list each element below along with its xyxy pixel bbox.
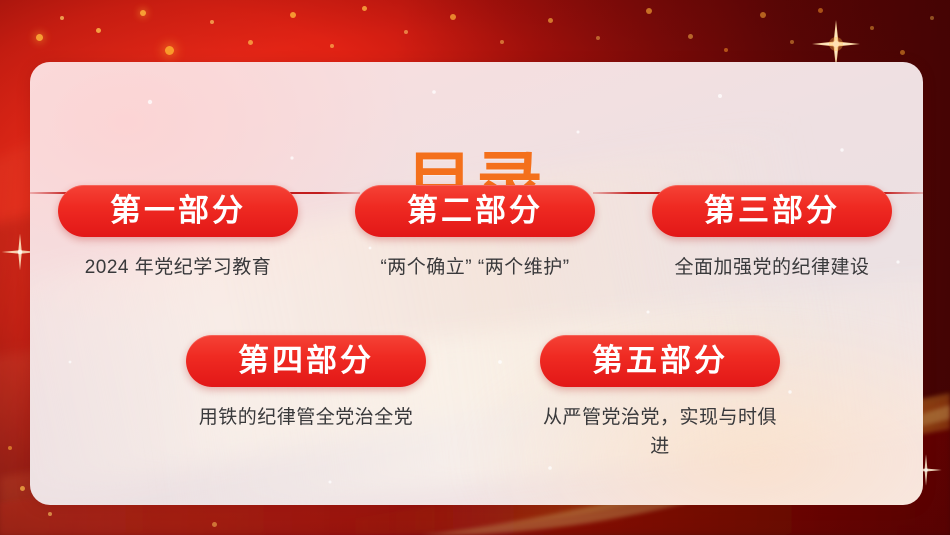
section-caption-1: 2024 年党纪学习教育 <box>58 253 298 282</box>
section-badge-3[interactable]: 第三部分 <box>652 185 892 237</box>
section-caption-4: 用铁的纪律管全党治全党 <box>186 403 426 432</box>
section-caption-3: 全面加强党的纪律建设 <box>652 253 892 282</box>
toc-item-5[interactable]: 第五部分 从严管党治党，实现与时俱进 <box>540 335 780 461</box>
section-badge-5[interactable]: 第五部分 <box>540 335 780 387</box>
section-caption-2: “两个确立” “两个维护” <box>355 253 595 282</box>
section-badge-1[interactable]: 第一部分 <box>58 185 298 237</box>
toc-item-4[interactable]: 第四部分 用铁的纪律管全党治全党 <box>186 335 426 432</box>
section-badge-2[interactable]: 第二部分 <box>355 185 595 237</box>
toc-item-1[interactable]: 第一部分 2024 年党纪学习教育 <box>58 185 298 282</box>
toc-items: 第一部分 2024 年党纪学习教育 第二部分 “两个确立” “两个维护” 第三部… <box>30 62 923 505</box>
presentation-slide: 目录 第一部分 2024 年党纪学习教育 第二部分 “两个确立” “两个维护” … <box>0 0 950 535</box>
section-caption-5: 从严管党治党，实现与时俱进 <box>540 403 780 461</box>
toc-item-3[interactable]: 第三部分 全面加强党的纪律建设 <box>652 185 892 282</box>
content-panel: 目录 第一部分 2024 年党纪学习教育 第二部分 “两个确立” “两个维护” … <box>30 62 923 505</box>
toc-item-2[interactable]: 第二部分 “两个确立” “两个维护” <box>355 185 595 282</box>
section-badge-4[interactable]: 第四部分 <box>186 335 426 387</box>
